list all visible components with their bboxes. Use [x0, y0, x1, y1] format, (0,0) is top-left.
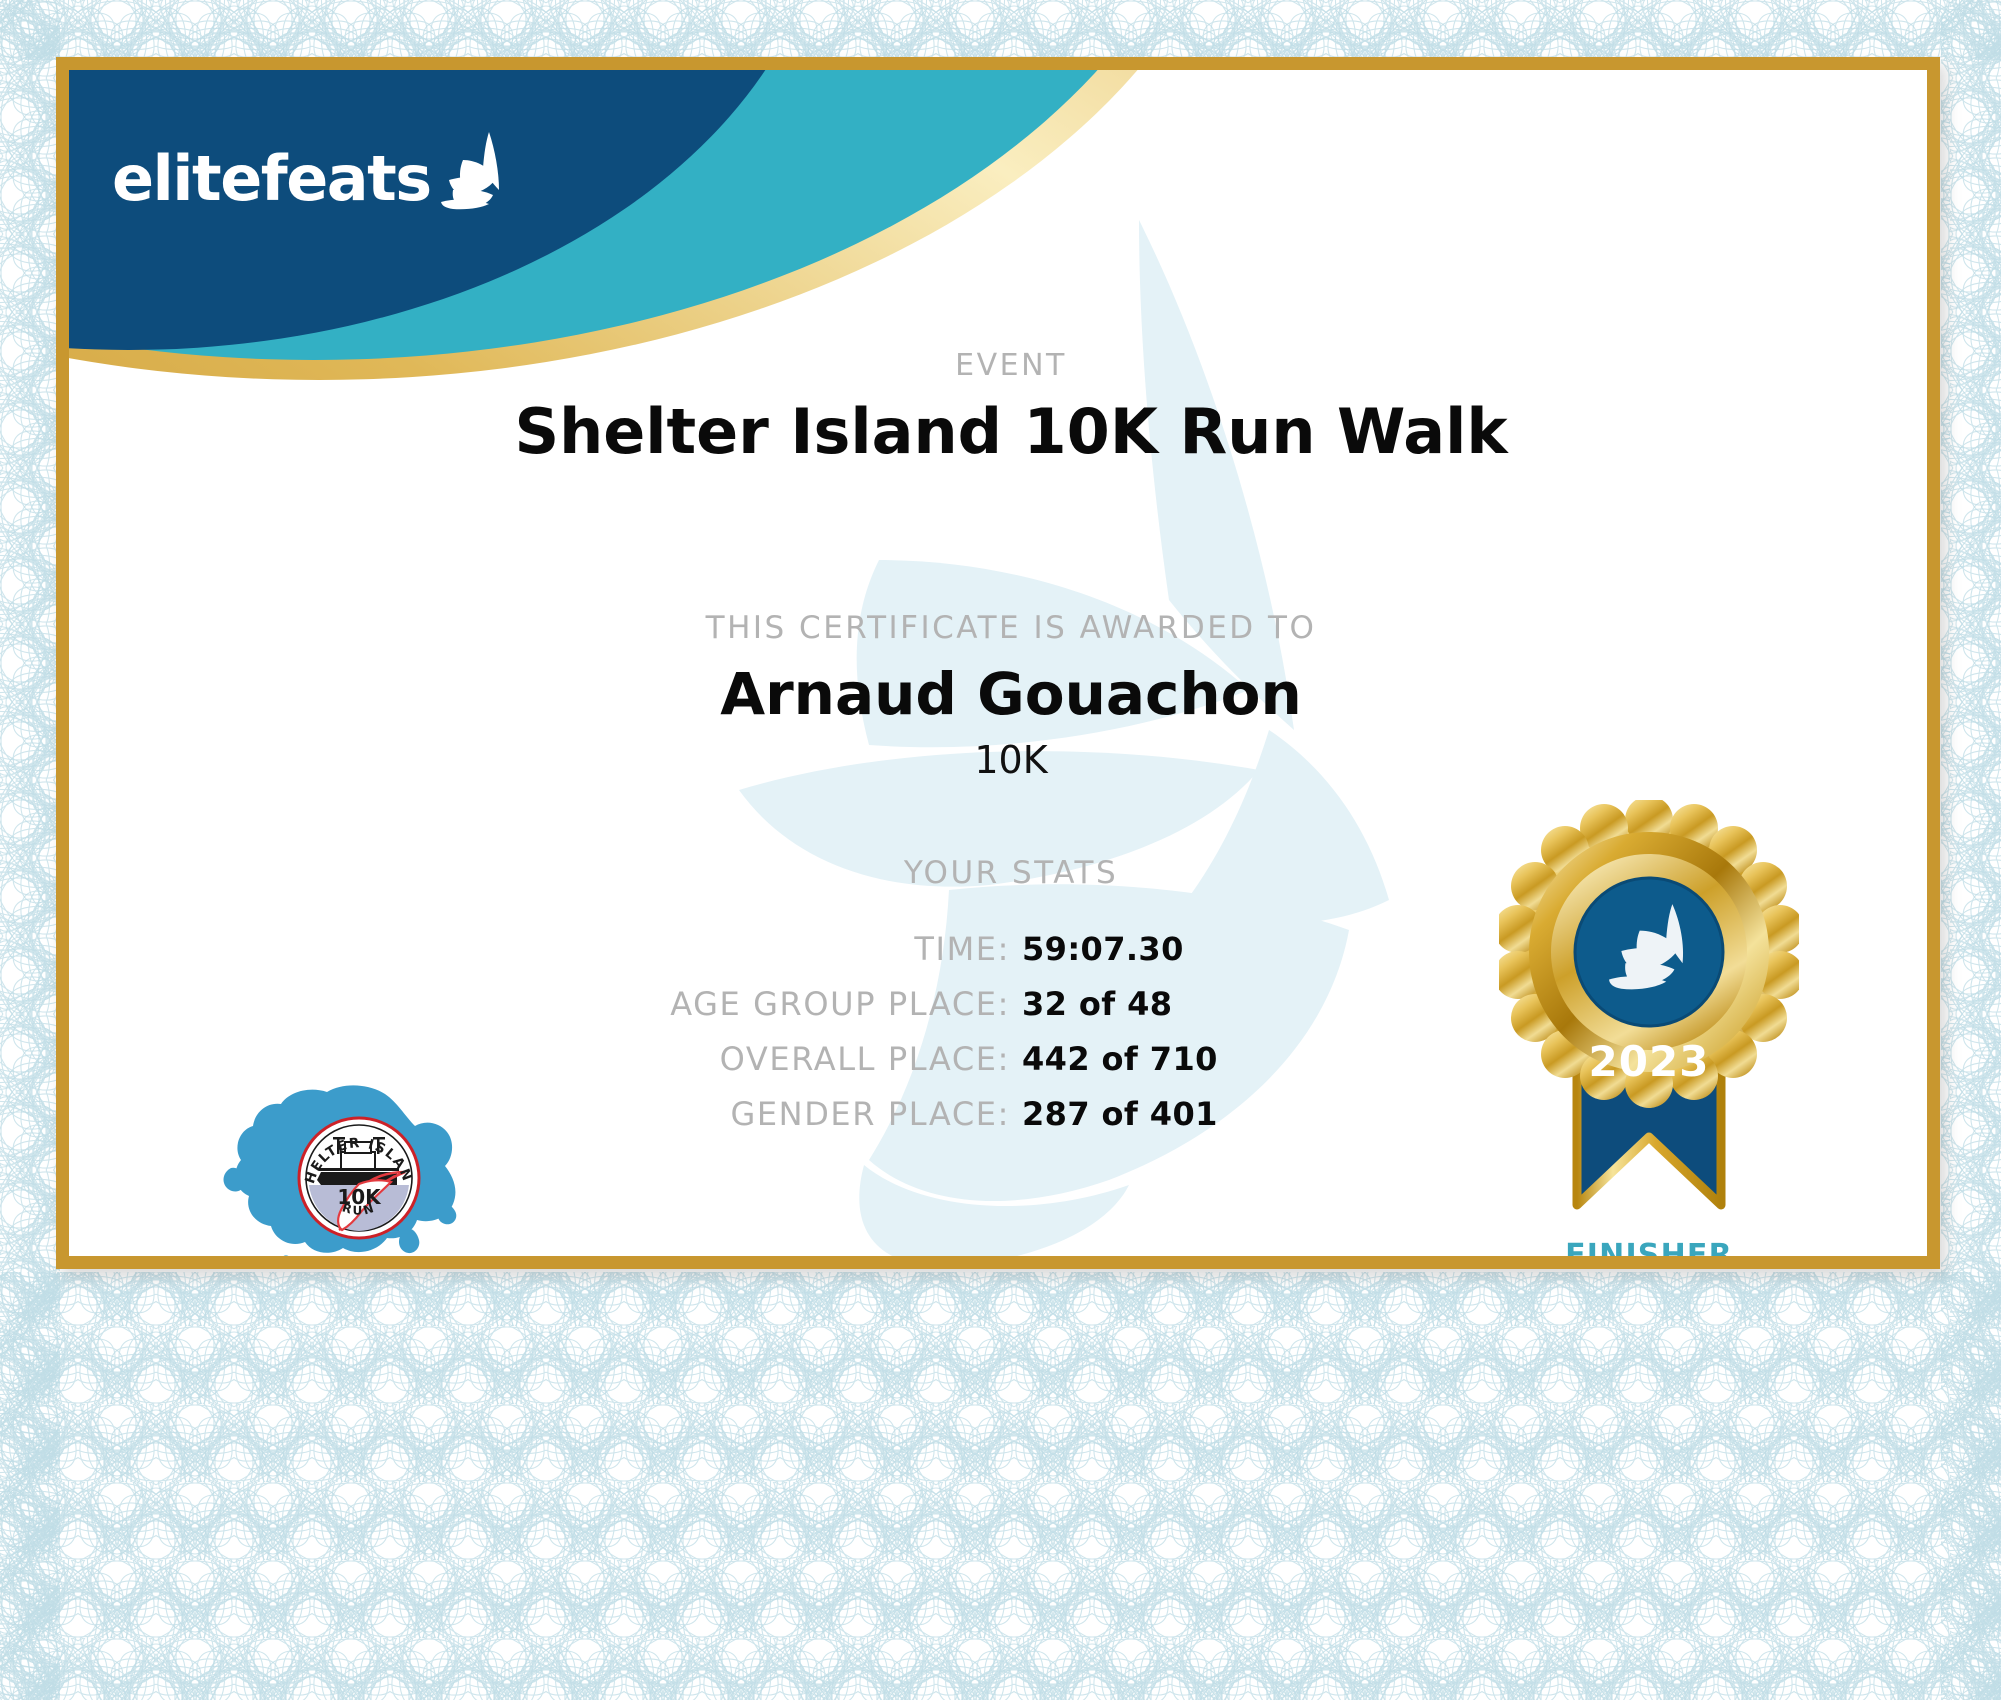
certificate-page: elitefeats EVENT Shelter Island 10K Run … — [0, 0, 2001, 1700]
recipient-division: 10K — [69, 738, 1940, 782]
race-badge-center-text: 10K — [337, 1185, 382, 1209]
race-logo-block: SHELTER ISLAND RUN 10K PRESENTED BY — [199, 1080, 519, 1269]
event-name: Shelter Island 10K Run Walk — [69, 395, 1940, 468]
shelter-island-10k-run-logo: SHELTER ISLAND RUN 10K — [209, 1080, 509, 1265]
medal-year: 2023 — [1589, 1037, 1710, 1086]
certificate-frame: elitefeats EVENT Shelter Island 10K Run … — [56, 57, 1940, 1269]
stat-value: 59:07.30 — [1022, 930, 1492, 968]
finisher-caption-line1: FINISHER — [1469, 1239, 1829, 1269]
gold-medal-ribbon: 2023 — [1499, 800, 1799, 1230]
stat-key: GENDER PLACE: — [540, 1095, 1010, 1133]
awarded-to-label: THIS CERTIFICATE IS AWARDED TO — [69, 610, 1940, 646]
elitefeats-logo: elitefeats — [112, 128, 511, 210]
brand-wordmark: elitefeats — [112, 148, 431, 210]
stat-value: 32 of 48 — [1022, 985, 1492, 1023]
stat-key: OVERALL PLACE: — [540, 1040, 1010, 1078]
stat-value: 442 of 710 — [1022, 1040, 1492, 1078]
stat-value: 287 of 401 — [1022, 1095, 1492, 1133]
winged-foot-icon — [433, 128, 511, 210]
stat-key: AGE GROUP PLACE: — [540, 985, 1010, 1023]
event-label: EVENT — [69, 348, 1940, 383]
recipient-name: Arnaud Gouachon — [69, 660, 1940, 728]
finisher-medal-block: 2023 FINISHER CERTIFICATE — [1469, 800, 1829, 1269]
finisher-certificate-caption: FINISHER CERTIFICATE — [1469, 1239, 1829, 1269]
stat-key: TIME: — [540, 930, 1010, 968]
